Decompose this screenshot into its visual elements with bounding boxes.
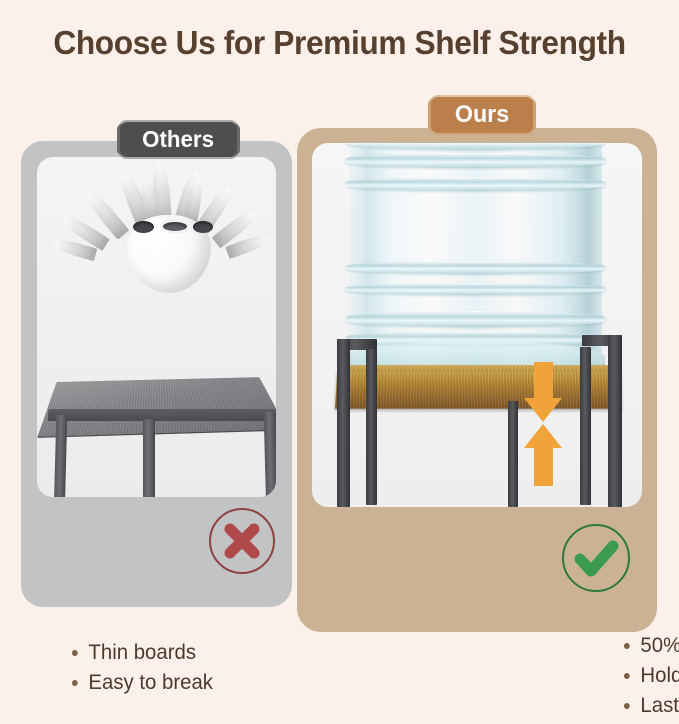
list-item: Thin boards	[70, 641, 213, 665]
others-product-image	[37, 157, 276, 497]
list-item: Holds more	[622, 664, 679, 688]
others-badge: Others	[120, 122, 237, 157]
table-edge	[48, 409, 276, 421]
shelf-board-edge	[335, 372, 622, 409]
jug-ring	[346, 177, 605, 191]
check-icon	[562, 524, 630, 592]
ours-product-image	[312, 143, 642, 507]
jug-ring	[346, 153, 605, 168]
thickness-arrow-up-head	[524, 424, 562, 448]
ours-badge-label: Ours	[455, 103, 509, 127]
thickness-arrow-down	[534, 362, 553, 400]
list-item: Easy to break	[70, 671, 213, 695]
list-item: 50% thicker boards	[622, 634, 679, 658]
ours-feature-list: 50% thicker boards Holds more Lasts long…	[622, 634, 679, 724]
jug-ring	[346, 311, 605, 327]
ours-badge: Ours	[431, 97, 533, 133]
shelf-leg	[366, 349, 377, 505]
table-leg	[54, 415, 68, 497]
planter-opening	[193, 221, 213, 233]
shelf-leg	[608, 335, 622, 507]
planter-opening	[160, 219, 190, 234]
table-leg	[264, 412, 276, 497]
shelf-leg	[580, 347, 591, 505]
planter-opening	[133, 221, 154, 233]
others-scene	[37, 157, 276, 497]
shelf-leg	[508, 401, 518, 507]
ours-scene	[312, 143, 642, 507]
list-item: Lasts longer	[622, 694, 679, 718]
cross-icon	[209, 508, 275, 574]
others-feature-list: Thin boards Easy to break	[70, 641, 217, 701]
jug-ring	[346, 261, 605, 274]
others-badge-label: Others	[143, 128, 215, 151]
shelf-leg	[337, 339, 350, 507]
page-title: Choose Us for Premium Shelf Strength	[14, 24, 666, 62]
thickness-arrow-up	[534, 444, 553, 486]
table-top	[38, 377, 276, 437]
table-leg	[143, 419, 155, 497]
thickness-arrow-down-head	[524, 398, 562, 422]
jug-ring	[346, 283, 605, 295]
